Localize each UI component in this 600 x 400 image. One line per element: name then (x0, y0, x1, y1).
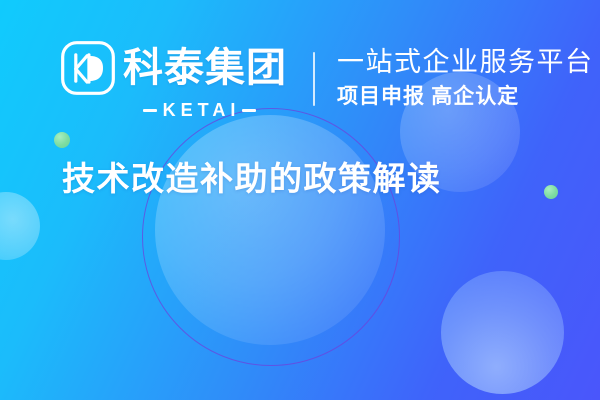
logo-english-name: KETAI (163, 101, 241, 119)
tagline-line-1: 一站式企业服务平台 (337, 47, 594, 79)
logo-dash-right-icon (242, 109, 256, 112)
banner-header: 科泰集团 KETAI 一站式企业服务平台 项目申报 高企认定 (58, 38, 594, 119)
decor-lower-right-circle (441, 271, 564, 394)
decor-left-edge-circle (0, 192, 40, 260)
logo-dash-left-icon (143, 109, 157, 112)
decor-green-dot-right (544, 185, 558, 199)
brand-tagline: 一站式企业服务平台 项目申报 高企认定 (337, 47, 594, 109)
page-title: 技术改造补助的政策解读 (62, 158, 442, 199)
promo-banner: 科泰集团 KETAI 一站式企业服务平台 项目申报 高企认定 技术改造补助的政策… (0, 0, 600, 400)
logo-english-row: KETAI (143, 101, 257, 119)
decor-center-halo-circle (155, 115, 385, 345)
decor-purple-ring (142, 108, 400, 366)
tagline-line-2: 项目申报 高企认定 (337, 83, 594, 109)
logo-primary-row: 科泰集团 (58, 38, 287, 98)
ketai-kd-monogram-icon (58, 38, 118, 98)
decor-green-dot-left (54, 132, 70, 148)
brand-logo: 科泰集团 KETAI (58, 38, 287, 119)
logo-chinese-name: 科泰集团 (123, 48, 287, 88)
header-divider (313, 52, 315, 106)
